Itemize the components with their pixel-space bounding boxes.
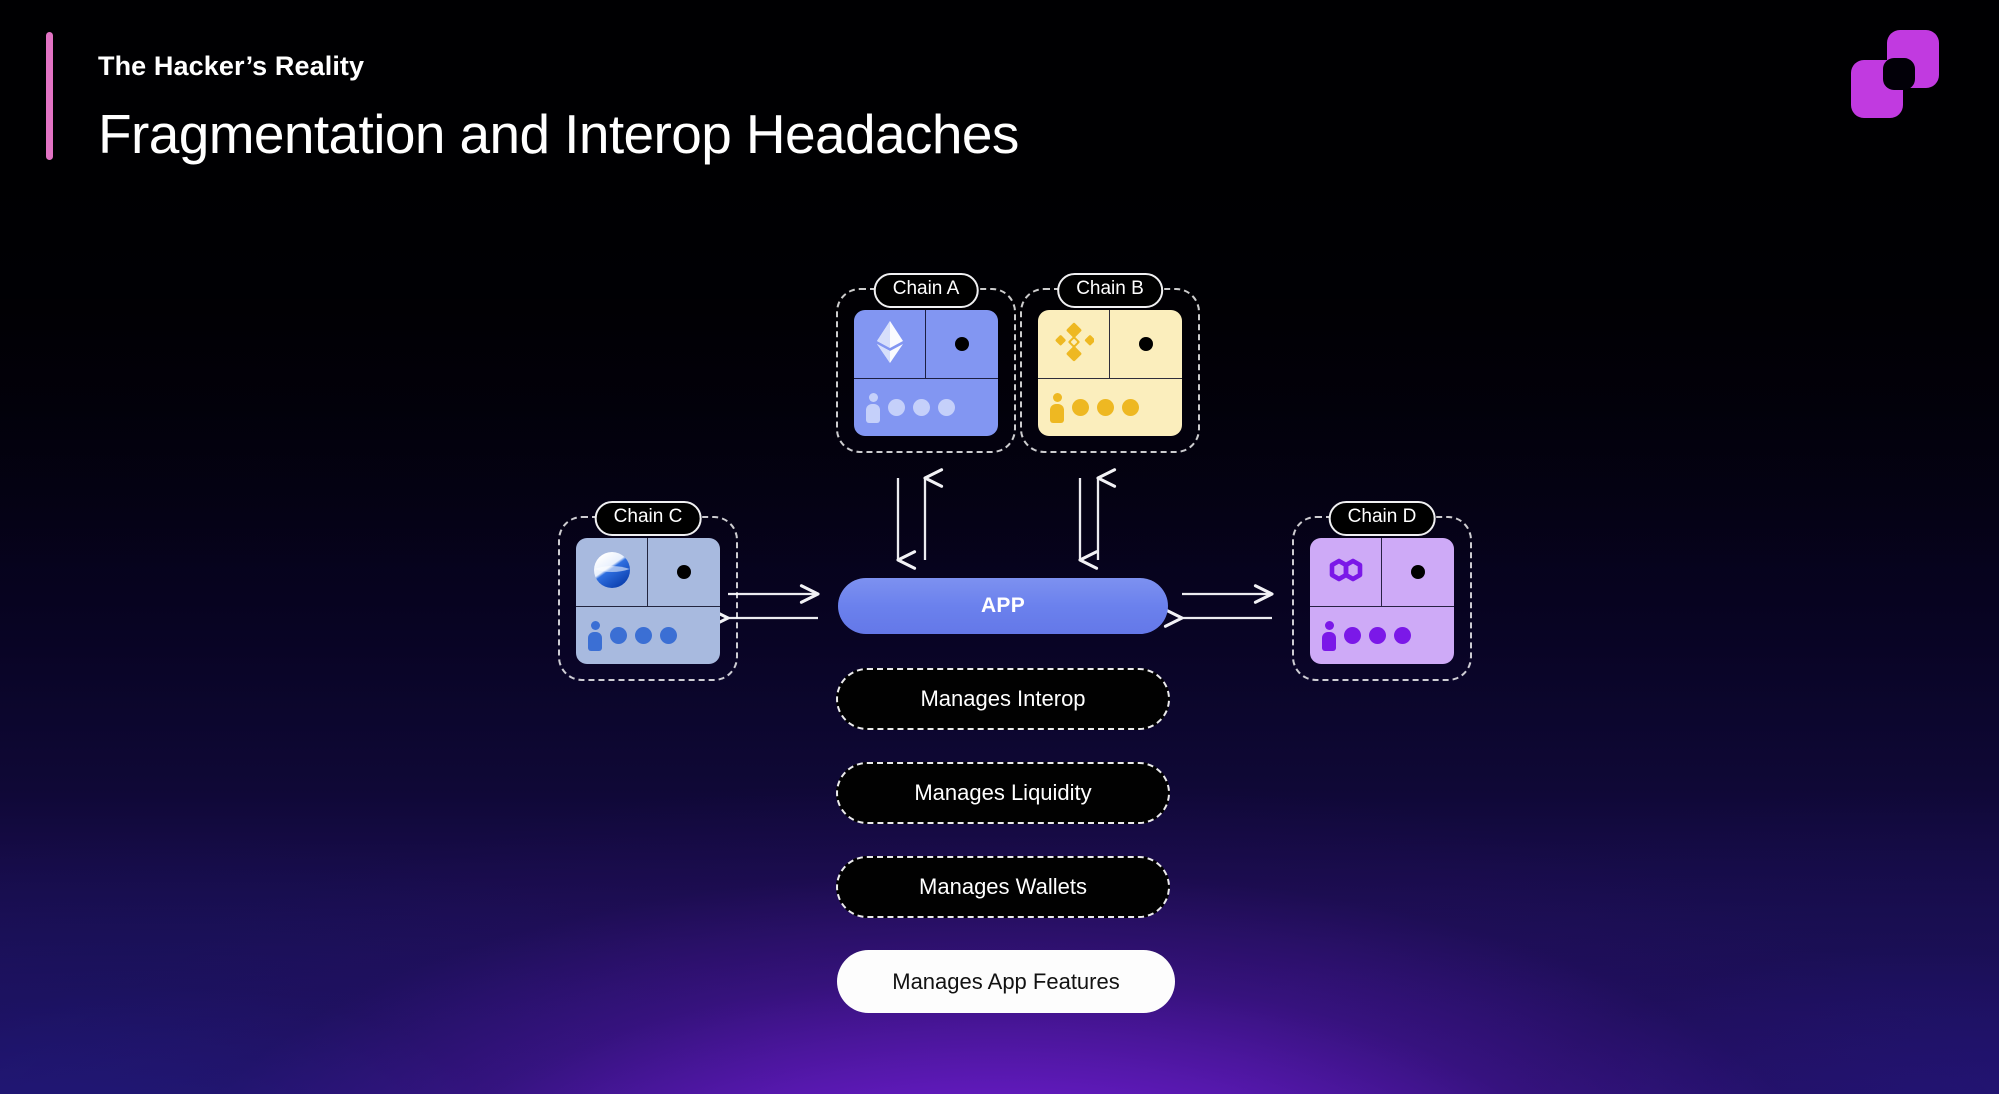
responsibility-pill-app-features[interactable]: Manages App Features bbox=[837, 950, 1175, 1013]
chain-frame: Chain A bbox=[836, 288, 1016, 453]
status-dot-icon bbox=[955, 337, 969, 351]
crowd-dot-icon bbox=[1122, 399, 1139, 416]
chain-frame: Chain C bbox=[558, 516, 738, 681]
accent-bar bbox=[46, 32, 53, 160]
responsibility-pill-interop[interactable]: Manages Interop bbox=[836, 668, 1170, 730]
chain-node-chain-b[interactable]: Chain B bbox=[1020, 288, 1200, 453]
responsibility-pill-wallets[interactable]: Manages Wallets bbox=[836, 856, 1170, 918]
page-title: Fragmentation and Interop Headaches bbox=[98, 104, 1019, 166]
chain-label: Chain D bbox=[1329, 501, 1436, 536]
chain-node-chain-d[interactable]: Chain D bbox=[1292, 516, 1472, 681]
app-node[interactable]: APP bbox=[838, 578, 1168, 634]
crowd-dot-icon bbox=[888, 399, 905, 416]
header-text-group: The Hacker’s Reality Fragmentation and I… bbox=[98, 32, 1019, 165]
user-person-icon bbox=[588, 621, 602, 651]
crowd-dot-icon bbox=[1369, 627, 1386, 644]
chain-card-top-row bbox=[576, 538, 720, 606]
slide-canvas: The Hacker’s Reality Fragmentation and I… bbox=[0, 0, 1999, 1094]
crowd-dot-icon bbox=[1394, 627, 1411, 644]
sphere-icon bbox=[592, 550, 632, 595]
chain-label: Chain B bbox=[1057, 273, 1163, 308]
polygon-p-logo-icon bbox=[1847, 28, 1943, 120]
status-dot-icon bbox=[1411, 565, 1425, 579]
crowd-dot-icon bbox=[635, 627, 652, 644]
eyebrow-text: The Hacker’s Reality bbox=[98, 52, 1019, 82]
responsibility-pill-liquidity[interactable]: Manages Liquidity bbox=[836, 762, 1170, 824]
crowd-dot-icon bbox=[938, 399, 955, 416]
status-dot-icon bbox=[677, 565, 691, 579]
token-icon-cell bbox=[576, 538, 648, 606]
chain-users-row bbox=[576, 606, 720, 664]
crowd-dot-icon bbox=[913, 399, 930, 416]
chain-frame: Chain B bbox=[1020, 288, 1200, 453]
user-person-icon bbox=[1322, 621, 1336, 651]
chain-card bbox=[1038, 310, 1182, 436]
ethereum-icon bbox=[877, 321, 903, 368]
token-icon-cell bbox=[1038, 310, 1110, 378]
binance-icon bbox=[1054, 322, 1094, 367]
chain-users-row bbox=[1310, 606, 1454, 664]
chain-label: Chain A bbox=[874, 273, 979, 308]
chain-node-chain-c[interactable]: Chain C bbox=[558, 516, 738, 681]
crowd-dot-icon bbox=[1344, 627, 1361, 644]
chain-users-row bbox=[854, 378, 998, 436]
crowd-dot-icon bbox=[1072, 399, 1089, 416]
chain-frame: Chain D bbox=[1292, 516, 1472, 681]
user-person-icon bbox=[1050, 393, 1064, 423]
token-icon-cell bbox=[1310, 538, 1382, 606]
chain-card bbox=[1310, 538, 1454, 664]
status-dot-cell bbox=[1382, 538, 1454, 606]
chain-users-row bbox=[1038, 378, 1182, 436]
status-dot-cell bbox=[648, 538, 720, 606]
slide-header: The Hacker’s Reality Fragmentation and I… bbox=[46, 32, 1019, 165]
user-person-icon bbox=[866, 393, 880, 423]
chain-node-chain-a[interactable]: Chain A bbox=[836, 288, 1016, 453]
chain-card-top-row bbox=[854, 310, 998, 378]
chain-card bbox=[854, 310, 998, 436]
status-dot-cell bbox=[926, 310, 998, 378]
token-icon-cell bbox=[854, 310, 926, 378]
crowd-dot-icon bbox=[610, 627, 627, 644]
crowd-dot-icon bbox=[660, 627, 677, 644]
crowd-dot-icon bbox=[1097, 399, 1114, 416]
chain-card-top-row bbox=[1038, 310, 1182, 378]
status-dot-cell bbox=[1110, 310, 1182, 378]
status-dot-icon bbox=[1139, 337, 1153, 351]
chain-card bbox=[576, 538, 720, 664]
polygon-icon bbox=[1325, 551, 1367, 594]
chain-label: Chain C bbox=[595, 501, 702, 536]
chain-card-top-row bbox=[1310, 538, 1454, 606]
